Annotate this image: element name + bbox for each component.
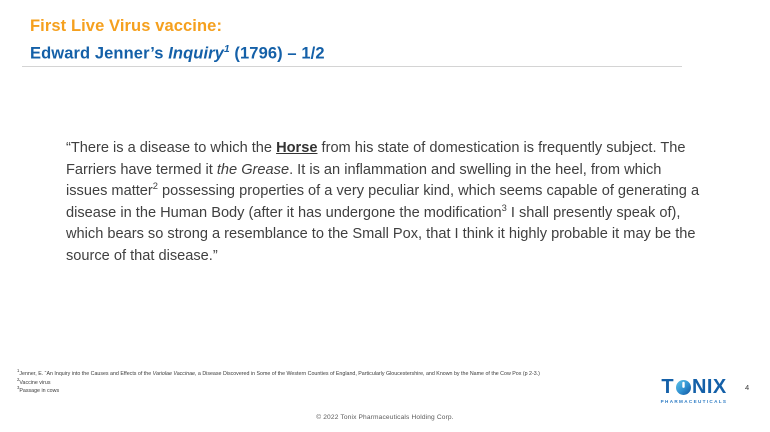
slide-title: First Live Virus vaccine: Edward Jenner’…	[30, 16, 730, 65]
footnote-2-text: Vaccine virus	[19, 380, 50, 386]
title-line-2-suffix: (1796) – 1/2	[230, 45, 325, 63]
footnote-3-text: Passage in cows	[19, 388, 59, 394]
quote-segment-1: “There is a disease to which the	[66, 140, 276, 156]
quote-body: “There is a disease to which the Horse f…	[66, 138, 702, 267]
tonix-logo-subtitle: PHARMACEUTICALS	[653, 399, 735, 404]
footnote-1-prefix: Jenner, E. “An Inquiry into the Causes a…	[19, 371, 152, 377]
footnote-item-1: 1Jenner, E. “An Inquiry into the Causes …	[17, 370, 637, 379]
title-inquiry-italic: Inquiry	[168, 45, 224, 63]
quote-italic-the-grease: the Grease	[217, 162, 289, 178]
quote-emphasis-horse: Horse	[276, 140, 317, 156]
title-divider	[22, 66, 682, 67]
footnote-item-2: 2Vaccine virus	[17, 379, 637, 388]
tonix-logo-letters-nix: NIX	[692, 376, 727, 398]
copyright-notice: © 2022 Tonix Pharmaceuticals Holding Cor…	[0, 414, 770, 421]
tonix-logo-wordmark: TNIX	[653, 376, 735, 398]
footnote-1-suffix: , a Disease Discovered in Some of the We…	[195, 371, 540, 377]
tonix-logo: TNIX PHARMACEUTICALS	[653, 376, 735, 404]
footnote-item-3: 3Passage in cows	[17, 387, 637, 396]
footnote-1-italic-title: Variolae Vaccinae	[153, 371, 195, 377]
title-line-1: First Live Virus vaccine:	[30, 16, 730, 37]
power-circle-icon	[675, 379, 692, 396]
tonix-logo-letter-t: T	[661, 376, 674, 398]
title-line-2: Edward Jenner’s Inquiry1 (1796) – 1/2	[30, 39, 730, 65]
footnote-list: 1Jenner, E. “An Inquiry into the Causes …	[17, 370, 637, 396]
slide-number: 4	[745, 383, 749, 392]
title-line-2-prefix: Edward Jenner’s	[30, 45, 168, 63]
